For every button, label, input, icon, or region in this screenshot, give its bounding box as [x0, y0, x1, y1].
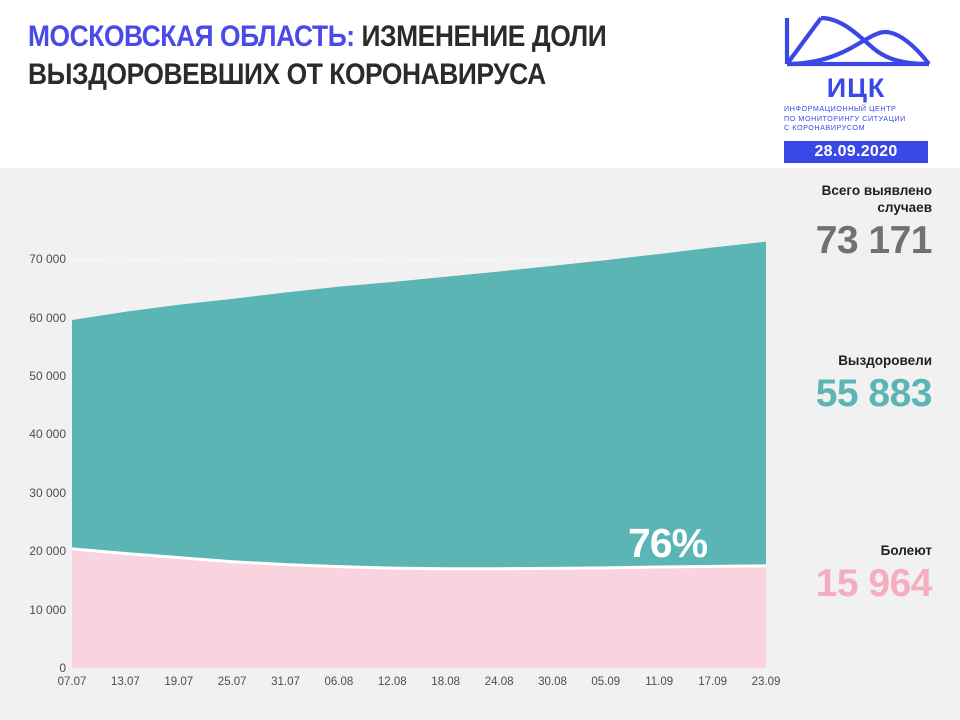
y-tick-label: 60 000: [29, 311, 66, 325]
x-tick-label: 17.09: [698, 676, 727, 688]
y-tick-label: 70 000: [29, 252, 66, 266]
stat-total-label-line-2: случаев: [772, 199, 932, 216]
y-tick-label: 10 000: [29, 603, 66, 617]
stat-total-label: Всего выявлено случаев: [772, 182, 932, 216]
title-line-2: ВЫЗДОРОВЕВШИХ ОТ КОРОНАВИРУСА: [28, 56, 644, 94]
title-rest: ИЗМЕНЕНИЕ ДОЛИ: [355, 20, 607, 53]
logo: ИЦК ИНФОРМАЦИОННЫЙ ЦЕНТР ПО МОНИТОРИНГУ …: [770, 12, 942, 163]
header: МОСКОВСКАЯ ОБЛАСТЬ: ИЗМЕНЕНИЕ ДОЛИ ВЫЗДО…: [0, 0, 960, 168]
x-tick-label: 06.08: [325, 676, 354, 688]
chart-area: 010 00020 00030 00040 00050 00060 00070 …: [0, 168, 770, 720]
x-tick-label: 24.08: [485, 676, 514, 688]
x-tick-label: 31.07: [271, 676, 300, 688]
x-tick-label: 12.08: [378, 676, 407, 688]
stat-ill: Болеют 15 964: [772, 542, 932, 606]
x-tick-label: 07.07: [58, 676, 87, 688]
logo-subtitle-line-3: С КОРОНАВИРУСОМ: [784, 123, 942, 133]
x-tick-label: 13.07: [111, 676, 140, 688]
title-accent: МОСКОВСКАЯ ОБЛАСТЬ:: [28, 20, 355, 53]
logo-subtitle: ИНФОРМАЦИОННЫЙ ЦЕНТР ПО МОНИТОРИНГУ СИТУ…: [770, 104, 942, 133]
stat-ill-label: Болеют: [772, 542, 932, 559]
stacked-area-chart: [0, 168, 770, 720]
y-tick-label: 20 000: [29, 544, 66, 558]
date-badge: 28.09.2020: [784, 141, 928, 163]
x-tick-label: 05.09: [591, 676, 620, 688]
page-title: МОСКОВСКАЯ ОБЛАСТЬ: ИЗМЕНЕНИЕ ДОЛИ ВЫЗДО…: [28, 18, 728, 94]
x-tick-label: 19.07: [164, 676, 193, 688]
stat-recovered: Выздоровели 55 883: [772, 352, 932, 416]
stat-recovered-label: Выздоровели: [772, 352, 932, 369]
title-line-1: МОСКОВСКАЯ ОБЛАСТЬ: ИЗМЕНЕНИЕ ДОЛИ: [28, 18, 644, 56]
stat-total-value: 73 171: [772, 218, 932, 263]
y-tick-label: 50 000: [29, 369, 66, 383]
stat-ill-value: 15 964: [772, 561, 932, 606]
y-tick-label: 30 000: [29, 486, 66, 500]
stat-total-label-line-1: Всего выявлено: [772, 182, 932, 199]
itsk-curve-logo-icon: [781, 12, 931, 74]
stat-recovered-value: 55 883: [772, 371, 932, 416]
stats-panel: Всего выявлено случаев 73 171 Выздоровел…: [770, 168, 960, 720]
recovered-percent-label: 76%: [628, 520, 707, 567]
x-tick-label: 11.09: [645, 676, 673, 688]
logo-subtitle-line-2: ПО МОНИТОРИНГУ СИТУАЦИИ: [784, 114, 942, 124]
y-tick-label: 40 000: [29, 427, 66, 441]
logo-wordmark: ИЦК: [770, 75, 942, 101]
y-axis-ticks: 010 00020 00030 00040 00050 00060 00070 …: [0, 168, 66, 720]
stat-total-cases: Всего выявлено случаев 73 171: [772, 182, 932, 263]
logo-subtitle-line-1: ИНФОРМАЦИОННЫЙ ЦЕНТР: [784, 104, 942, 114]
x-tick-label: 25.07: [218, 676, 247, 688]
x-axis-ticks: 07.0713.0719.0725.0731.0706.0812.0818.08…: [0, 668, 770, 698]
x-tick-label: 30.08: [538, 676, 567, 688]
x-tick-label: 18.08: [431, 676, 460, 688]
